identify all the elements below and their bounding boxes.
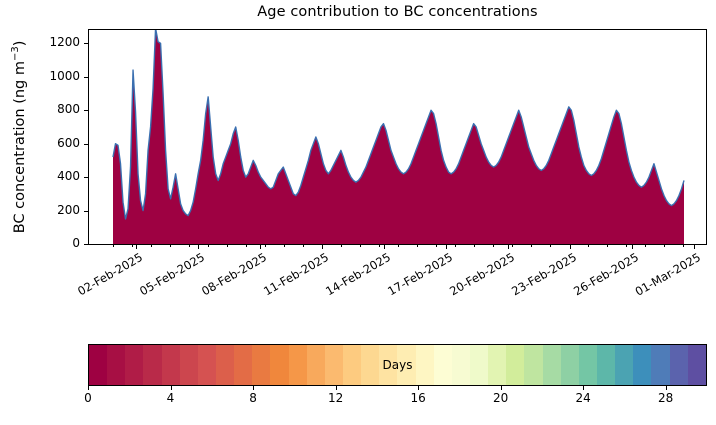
- y-tick-mark: [84, 211, 88, 212]
- colorbar-segment-10: [270, 345, 288, 385]
- colorbar-segment-15: [361, 345, 379, 385]
- plot-axes: [88, 29, 707, 245]
- colorbar-segment-29: [615, 345, 633, 385]
- colorbar-segment-28: [597, 345, 615, 385]
- y-tick-mark: [84, 110, 88, 111]
- y-tick-mark: [84, 144, 88, 145]
- x-tick-minor: [645, 245, 646, 247]
- x-tick-mark: [136, 245, 137, 249]
- colorbar-segment-30: [633, 345, 651, 385]
- colorbar-segment-18: [416, 345, 434, 385]
- colorbar-tick-label: 20: [481, 391, 521, 405]
- colorbar-segment-14: [343, 345, 361, 385]
- chart-title: Age contribution to BC concentrations: [88, 4, 707, 20]
- x-tick-mark: [322, 245, 323, 249]
- x-tick-mark: [570, 245, 571, 249]
- x-tick-minor: [664, 245, 665, 247]
- x-tick-minor: [417, 245, 418, 247]
- colorbar-tick-mark: [171, 386, 172, 390]
- x-tick-minor: [474, 245, 475, 247]
- colorbar-tick-mark: [336, 386, 337, 390]
- y-tick-mark: [84, 244, 88, 245]
- colorbar-tick-label: 8: [233, 391, 273, 405]
- x-tick-minor: [303, 245, 304, 247]
- colorbar-segment-19: [434, 345, 452, 385]
- x-tick-minor: [588, 245, 589, 247]
- colorbar-tick-mark: [583, 386, 584, 390]
- colorbar-tick-label: 16: [398, 391, 438, 405]
- x-tick-minor: [607, 245, 608, 247]
- x-tick-mark: [446, 245, 447, 249]
- x-tick-minor: [151, 245, 152, 247]
- colorbar-tick-mark: [501, 386, 502, 390]
- x-tick-minor: [246, 245, 247, 247]
- y-tick-mark: [84, 43, 88, 44]
- x-tick-mark: [198, 245, 199, 249]
- colorbar-segment-1: [107, 345, 125, 385]
- x-tick-minor: [531, 245, 532, 247]
- x-tick-minor: [132, 245, 133, 247]
- x-tick-minor: [379, 245, 380, 247]
- y-tick-label: 400: [40, 169, 80, 183]
- colorbar-segment-26: [561, 345, 579, 385]
- x-tick-minor: [341, 245, 342, 247]
- colorbar-segment-27: [579, 345, 597, 385]
- y-tick-label: 800: [40, 102, 80, 116]
- y-tick-label: 600: [40, 136, 80, 150]
- colorbar-tick-mark: [666, 386, 667, 390]
- colorbar-segment-6: [198, 345, 216, 385]
- x-tick-mark: [260, 245, 261, 249]
- x-tick-mark: [694, 245, 695, 249]
- x-tick-minor: [436, 245, 437, 247]
- x-tick-minor: [683, 245, 684, 247]
- colorbar-segment-7: [216, 345, 234, 385]
- x-tick-minor: [284, 245, 285, 247]
- colorbar-segment-9: [252, 345, 270, 385]
- x-tick-minor: [360, 245, 361, 247]
- y-axis-label: BC concentration (ng m−3): [10, 12, 28, 262]
- colorbar-segment-23: [506, 345, 524, 385]
- colorbar-tick-mark: [418, 386, 419, 390]
- colorbar-segment-12: [307, 345, 325, 385]
- colorbar-tick-label: 4: [151, 391, 191, 405]
- x-tick-minor: [626, 245, 627, 247]
- colorbar-segment-22: [488, 345, 506, 385]
- colorbar-segment-2: [125, 345, 143, 385]
- x-tick-minor: [550, 245, 551, 247]
- colorbar-segment-20: [452, 345, 470, 385]
- colorbar[interactable]: [88, 344, 707, 386]
- colorbar-segment-13: [325, 345, 343, 385]
- y-tick-label: 1000: [40, 69, 80, 83]
- x-tick-minor: [189, 245, 190, 247]
- y-tick-label: 200: [40, 203, 80, 217]
- colorbar-tick-label: 12: [316, 391, 356, 405]
- x-tick-minor: [493, 245, 494, 247]
- x-tick-minor: [455, 245, 456, 247]
- age-band-0: [113, 30, 684, 244]
- y-axis-label-close: ): [12, 41, 28, 47]
- colorbar-segment-4: [162, 345, 180, 385]
- x-tick-minor: [170, 245, 171, 247]
- y-axis-label-text: BC concentration (ng m: [12, 61, 28, 233]
- stacked-area-plot: [89, 30, 706, 244]
- x-tick-minor: [398, 245, 399, 247]
- colorbar-tick-mark: [88, 386, 89, 390]
- x-tick-minor: [265, 245, 266, 247]
- colorbar-tick-label: 28: [646, 391, 686, 405]
- colorbar-segment-17: [397, 345, 415, 385]
- x-tick-mark: [632, 245, 633, 249]
- x-tick-minor: [512, 245, 513, 247]
- colorbar-segment-31: [651, 345, 669, 385]
- colorbar-segment-3: [143, 345, 161, 385]
- colorbar-gradient-strip: [89, 345, 706, 385]
- x-tick-mark: [384, 245, 385, 249]
- y-tick-label: 0: [40, 236, 80, 250]
- y-tick-mark: [84, 177, 88, 178]
- figure-canvas: Age contribution to BC concentrations BC…: [0, 0, 716, 425]
- colorbar-tick-label: 24: [563, 391, 603, 405]
- colorbar-segment-32: [670, 345, 688, 385]
- x-tick-minor: [208, 245, 209, 247]
- colorbar-segment-25: [543, 345, 561, 385]
- x-tick-minor: [227, 245, 228, 247]
- y-tick-mark: [84, 77, 88, 78]
- colorbar-segment-21: [470, 345, 488, 385]
- x-tick-minor: [113, 245, 114, 247]
- y-tick-label: 1200: [40, 35, 80, 49]
- colorbar-segment-16: [379, 345, 397, 385]
- colorbar-tick-label: 0: [68, 391, 108, 405]
- colorbar-segment-5: [180, 345, 198, 385]
- colorbar-segment-24: [524, 345, 542, 385]
- colorbar-segment-33: [688, 345, 706, 385]
- x-tick-mark: [508, 245, 509, 249]
- colorbar-segment-8: [234, 345, 252, 385]
- colorbar-tick-mark: [253, 386, 254, 390]
- y-axis-label-exponent: −3: [10, 46, 21, 61]
- colorbar-segment-11: [289, 345, 307, 385]
- colorbar-segment-0: [89, 345, 107, 385]
